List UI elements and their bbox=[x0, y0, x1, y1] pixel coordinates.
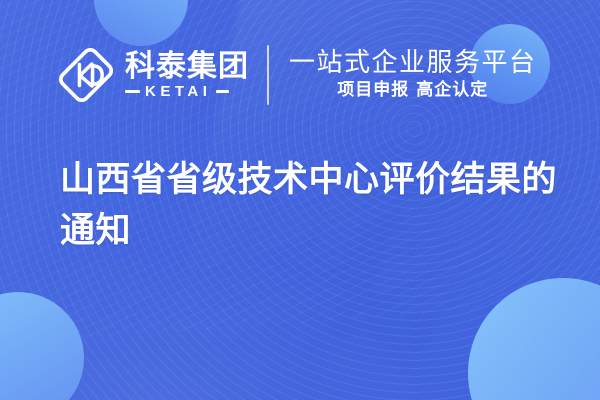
brand-name-en: KETAI bbox=[145, 84, 211, 99]
decorative-circle-bottom-left bbox=[0, 292, 84, 400]
brand-name-cn: 科泰集团 bbox=[125, 51, 249, 83]
brand-text-block: 科泰集团 KETAI bbox=[125, 51, 249, 100]
decorative-circle-bottom-right bbox=[468, 278, 600, 400]
tagline-sub: 项目申报 高企认定 bbox=[289, 81, 537, 101]
banner-header: 科泰集团 KETAI 一站式企业服务平台 项目申报 高企认定 bbox=[0, 0, 600, 150]
tagline-block: 一站式企业服务平台 项目申报 高企认定 bbox=[289, 49, 537, 101]
title-block: 山西省省级技术中心评价结果的通知 bbox=[60, 155, 560, 257]
brand-name-en-row: KETAI bbox=[125, 84, 249, 99]
ketai-diamond-monogram-logo-icon bbox=[58, 47, 114, 103]
page-title: 山西省省级技术中心评价结果的通知 bbox=[60, 155, 560, 257]
brand-rule-left-icon bbox=[125, 90, 140, 93]
article-cover-banner: 科泰集团 KETAI 一站式企业服务平台 项目申报 高企认定 山西省省级技术中心… bbox=[0, 0, 600, 400]
tagline-main: 一站式企业服务平台 bbox=[289, 49, 537, 78]
brand-lockup[interactable]: 科泰集团 KETAI bbox=[58, 47, 249, 103]
brand-rule-right-icon bbox=[216, 90, 229, 93]
vertical-divider bbox=[267, 45, 269, 105]
